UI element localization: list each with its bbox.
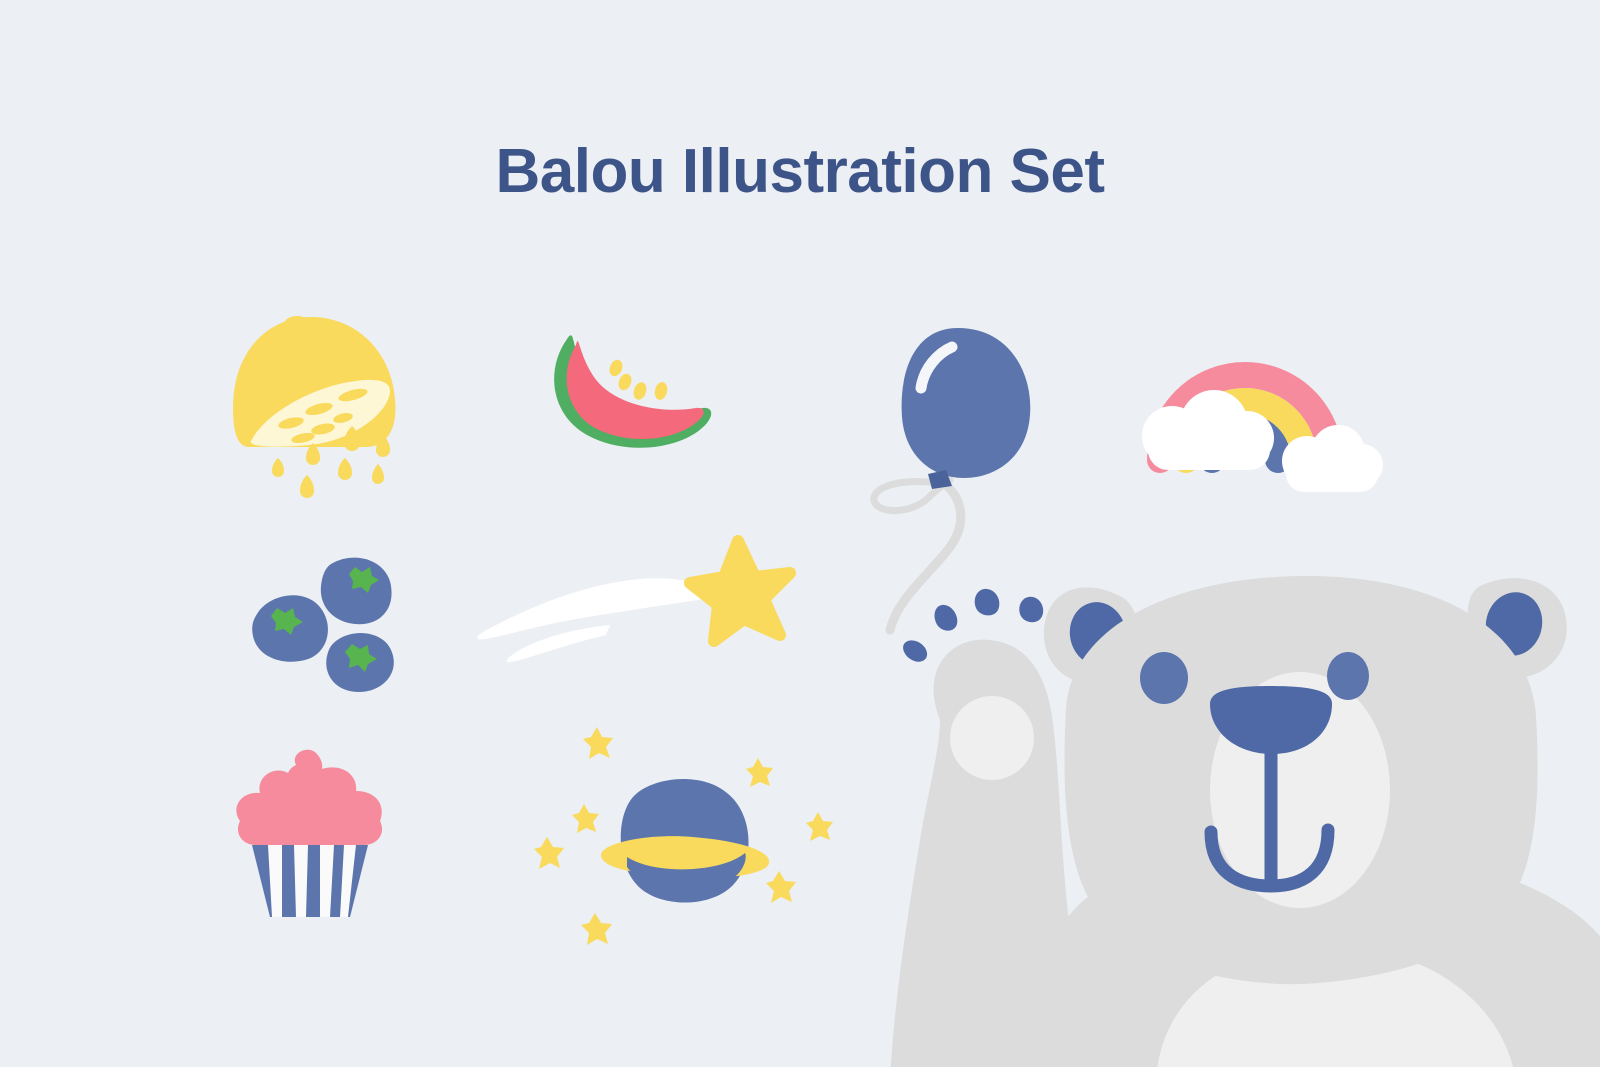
shooting-star-illustration [460,525,790,665]
cupcake-illustration [230,745,390,920]
bear-eye-right-icon [1327,652,1369,700]
watermelon-illustration [515,315,725,465]
bear-illustration [880,520,1600,1067]
bear-eye-left-icon [1140,652,1188,704]
cupcake-frosting-icon [236,750,382,845]
illustration-set-canvas: Balou Illustration Set [0,0,1600,1067]
shooting-star-icon [690,541,790,641]
planet-illustration [515,715,845,945]
bear-paw-pad-icon [950,696,1034,780]
blueberries-illustration [235,540,415,695]
watermelon-seeds-icon [607,358,669,402]
blueberry-item [326,633,394,692]
lemon-illustration [225,295,425,510]
balloon-body-icon [902,328,1031,478]
blueberry-body-icon [321,558,392,625]
blueberry-item [321,558,392,625]
rainbow-illustration [1110,280,1380,510]
blueberry-item [252,595,328,661]
page-title: Balou Illustration Set [0,136,1600,207]
